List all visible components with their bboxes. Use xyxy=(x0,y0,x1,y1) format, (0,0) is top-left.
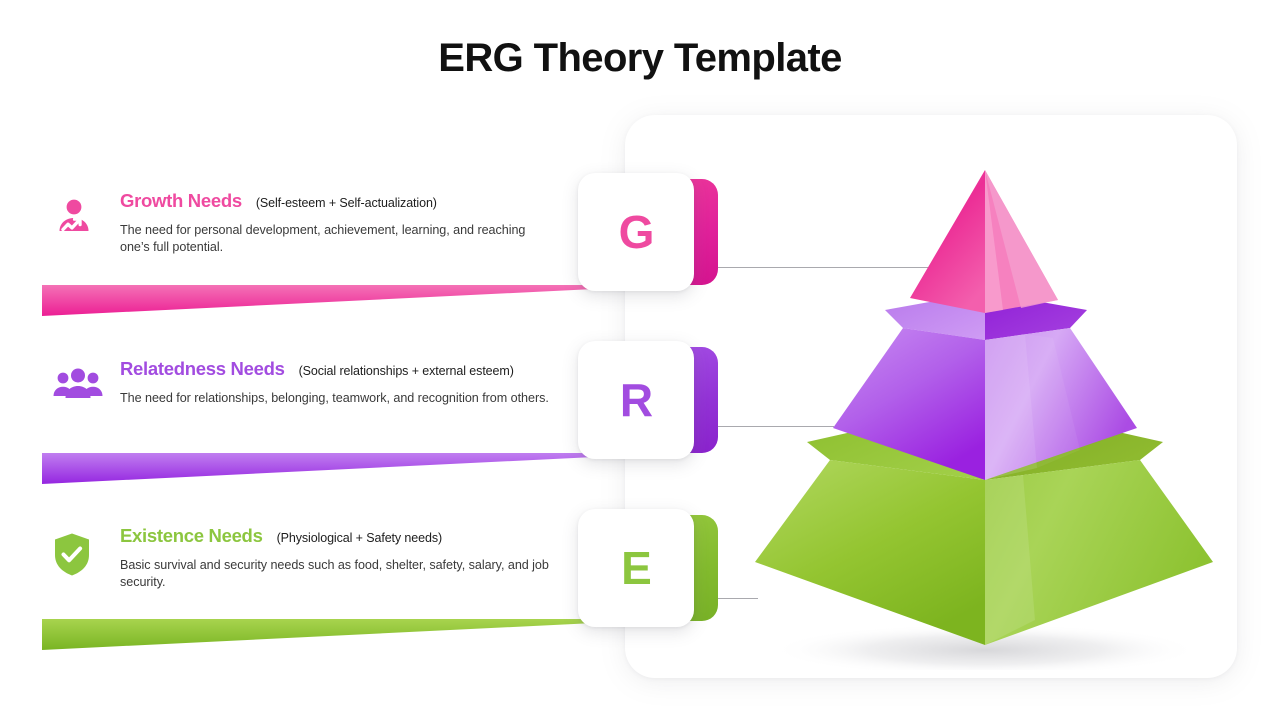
shield-check-icon xyxy=(52,531,100,579)
row-body: Existence Needs (Physiological + Safety … xyxy=(120,525,592,590)
card-letter: E xyxy=(621,545,651,591)
row-heading: Relatedness Needs (Social relationships … xyxy=(120,358,592,380)
row-body: Growth Needs (Self-esteem + Self-actuali… xyxy=(120,190,592,255)
letter-card-existence[interactable]: E xyxy=(578,509,718,627)
card-face: G xyxy=(578,173,694,291)
accent-wedge-relatedness xyxy=(42,451,594,485)
row-title: Existence Needs xyxy=(120,525,263,547)
row-subtitle: (Social relationships + external esteem) xyxy=(299,364,514,378)
row-body: Relatedness Needs (Social relationships … xyxy=(120,358,592,407)
card-letter: G xyxy=(619,209,654,255)
list-item-existence: Existence Needs (Physiological + Safety … xyxy=(52,525,592,590)
row-subtitle: (Physiological + Safety needs) xyxy=(277,531,443,545)
people-group-icon xyxy=(52,364,100,412)
row-description: The need for relationships, belonging, t… xyxy=(120,390,560,407)
person-growth-icon xyxy=(52,196,100,244)
row-heading: Existence Needs (Physiological + Safety … xyxy=(120,525,592,547)
card-face: R xyxy=(578,341,694,459)
row-heading: Growth Needs (Self-esteem + Self-actuali… xyxy=(120,190,592,212)
row-title: Relatedness Needs xyxy=(120,358,285,380)
erg-pyramid-graphic xyxy=(735,150,1235,670)
slide-canvas: ERG Theory Template xyxy=(0,0,1280,720)
row-subtitle: (Self-esteem + Self-actualization) xyxy=(256,196,437,210)
page-title: ERG Theory Template xyxy=(0,36,1280,81)
card-face: E xyxy=(578,509,694,627)
card-letter: R xyxy=(620,377,652,423)
list-item-growth: Growth Needs (Self-esteem + Self-actuali… xyxy=(52,190,592,255)
row-description: The need for personal development, achie… xyxy=(120,222,550,255)
row-description: Basic survival and security needs such a… xyxy=(120,557,550,590)
list-item-relatedness: Relatedness Needs (Social relationships … xyxy=(52,358,592,407)
row-title: Growth Needs xyxy=(120,190,242,212)
letter-card-growth[interactable]: G xyxy=(578,173,718,291)
accent-wedge-existence xyxy=(42,617,594,651)
letter-card-relatedness[interactable]: R xyxy=(578,341,718,459)
accent-wedge-growth xyxy=(42,283,594,317)
